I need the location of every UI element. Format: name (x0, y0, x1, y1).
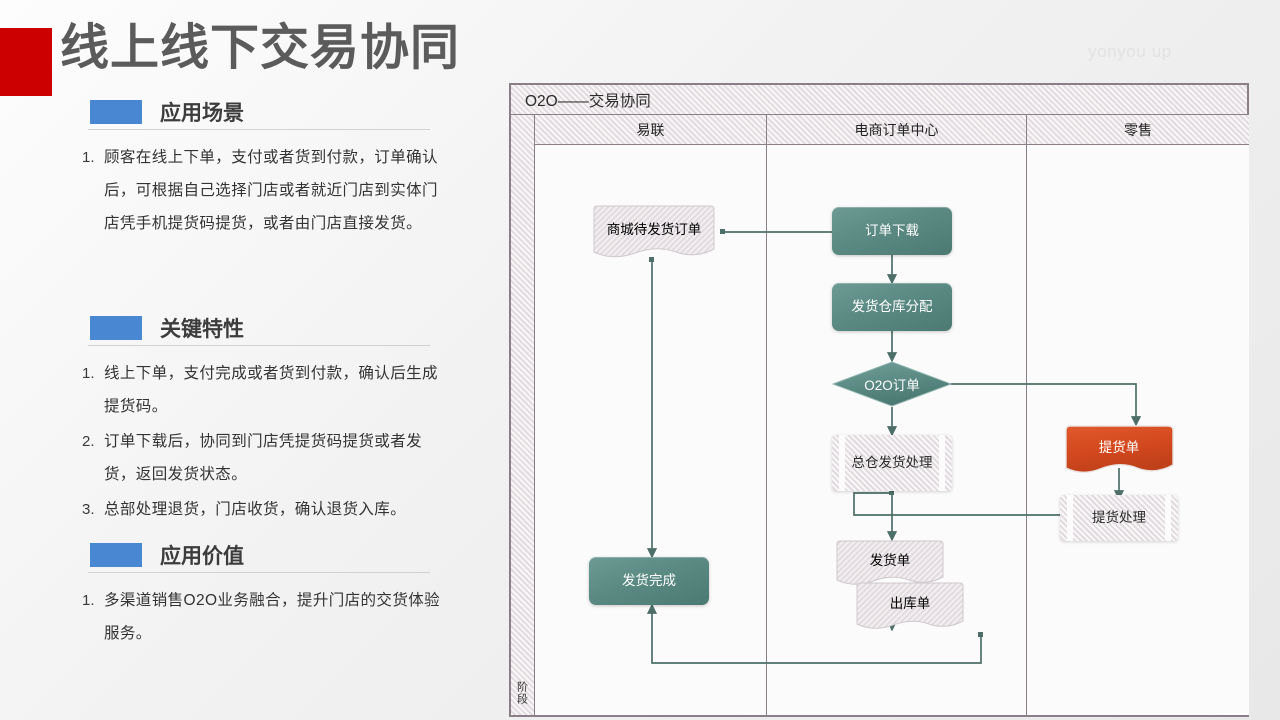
blue-chip-icon (90, 100, 142, 124)
list-item: 2. 订单下载后，协同到门店凭提货码提货或者发货，返回发货状态。 (60, 425, 450, 491)
list-item-number: 3. (60, 493, 104, 526)
section-title: 关键特性 (160, 313, 244, 343)
section-divider (88, 572, 430, 573)
node-label: 订单下载 (859, 223, 925, 240)
list-item-text: 订单下载后，协同到门店凭提货码提货或者发货，返回发货状态。 (104, 425, 450, 491)
list-item: 1. 线上下单，支付完成或者货到付款，确认后生成提货码。 (60, 357, 450, 423)
section-title: 应用场景 (160, 97, 244, 127)
section-divider (88, 129, 430, 130)
list-item-number: 1. (60, 584, 104, 650)
node-warehouse-allocation[interactable]: 发货仓库分配 (832, 283, 952, 331)
list-item: 1. 顾客在线上下单，支付或者货到付款，订单确认后，可根据自己选择门店或者就近门… (60, 141, 450, 240)
list-item-number: 1. (60, 357, 104, 423)
list-item-text: 线上下单，支付完成或者货到付款，确认后生成提货码。 (104, 357, 450, 423)
node-shipping-completed[interactable]: 发货完成 (589, 557, 709, 605)
diagram-title: O2O——交易协同 (511, 85, 1247, 115)
section-body: 1. 线上下单，支付完成或者货到付款，确认后生成提货码。 2. 订单下载后，协同… (60, 347, 450, 526)
node-label: 出库单 (852, 582, 968, 632)
node-hq-shipping-process[interactable]: 总仓发货处理 (832, 435, 952, 491)
list-item-text: 顾客在线上下单，支付或者货到付款，订单确认后，可根据自己选择门店或者就近门店到实… (104, 141, 450, 240)
section-title: 应用价值 (160, 540, 244, 570)
node-outbound-note[interactable]: 出库单 (852, 582, 968, 632)
red-accent-block (0, 28, 52, 96)
node-label: 发货完成 (616, 573, 682, 590)
node-pickup-note[interactable]: 提货单 (1060, 425, 1178, 477)
list-item-number: 2. (60, 425, 104, 491)
node-mall-pending-order[interactable]: 商城待发货订单 (589, 205, 719, 261)
section-application-scenario: 应用场景 1. 顾客在线上下单，支付或者货到付款，订单确认后，可根据自己选择门店… (60, 97, 450, 242)
section-header: 关键特性 (60, 313, 450, 347)
node-order-download[interactable]: 订单下载 (832, 207, 952, 255)
list-item: 1. 多渠道销售O2O业务融合，提升门店的交货体验服务。 (60, 584, 450, 650)
phase-label: 阶段 (516, 681, 530, 705)
process-diagram: O2O——交易协同 阶段 易联 电商订单中心 零售 (509, 83, 1249, 717)
blue-chip-icon (90, 543, 142, 567)
node-label: 发货仓库分配 (846, 299, 939, 316)
list-item-text: 总部处理退货，门店收货，确认退货入库。 (104, 493, 450, 526)
section-body: 1. 顾客在线上下单，支付或者货到付款，订单确认后，可根据自己选择门店或者就近门… (60, 131, 450, 240)
node-label: 提货处理 (1086, 510, 1152, 527)
node-label: O2O订单 (832, 361, 952, 407)
list-item-number: 1. (60, 141, 104, 240)
section-body: 1. 多渠道销售O2O业务融合，提升门店的交货体验服务。 (60, 574, 450, 650)
phase-column: 阶段 (511, 115, 535, 715)
node-o2o-order-decision[interactable]: O2O订单 (832, 361, 952, 407)
node-label: 商城待发货订单 (589, 205, 719, 261)
node-pickup-processing[interactable]: 提货处理 (1060, 495, 1178, 541)
node-label: 发货单 (832, 540, 948, 588)
node-label: 总仓发货处理 (846, 455, 939, 472)
lane-header-retail: 零售 (1027, 115, 1249, 145)
lane-header-order-center: 电商订单中心 (767, 115, 1027, 145)
node-shipping-note[interactable]: 发货单 (832, 540, 948, 588)
brand-watermark: yonyou up (1088, 42, 1172, 62)
section-divider (88, 345, 430, 346)
section-header: 应用场景 (60, 97, 450, 131)
slide-root: 线上线下交易协同 yonyou up 应用场景 1. 顾客在线上下单，支付或者货… (0, 0, 1280, 720)
node-label: 提货单 (1060, 425, 1178, 477)
section-header: 应用价值 (60, 540, 450, 574)
blue-chip-icon (90, 316, 142, 340)
list-item: 3. 总部处理退货，门店收货，确认退货入库。 (60, 493, 450, 526)
page-title: 线上线下交易协同 (60, 22, 460, 75)
lane-header-yilian: 易联 (535, 115, 767, 145)
list-item-text: 多渠道销售O2O业务融合，提升门店的交货体验服务。 (104, 584, 450, 650)
section-key-features: 关键特性 1. 线上下单，支付完成或者货到付款，确认后生成提货码。 2. 订单下… (60, 313, 450, 528)
section-application-value: 应用价值 1. 多渠道销售O2O业务融合，提升门店的交货体验服务。 (60, 540, 450, 652)
